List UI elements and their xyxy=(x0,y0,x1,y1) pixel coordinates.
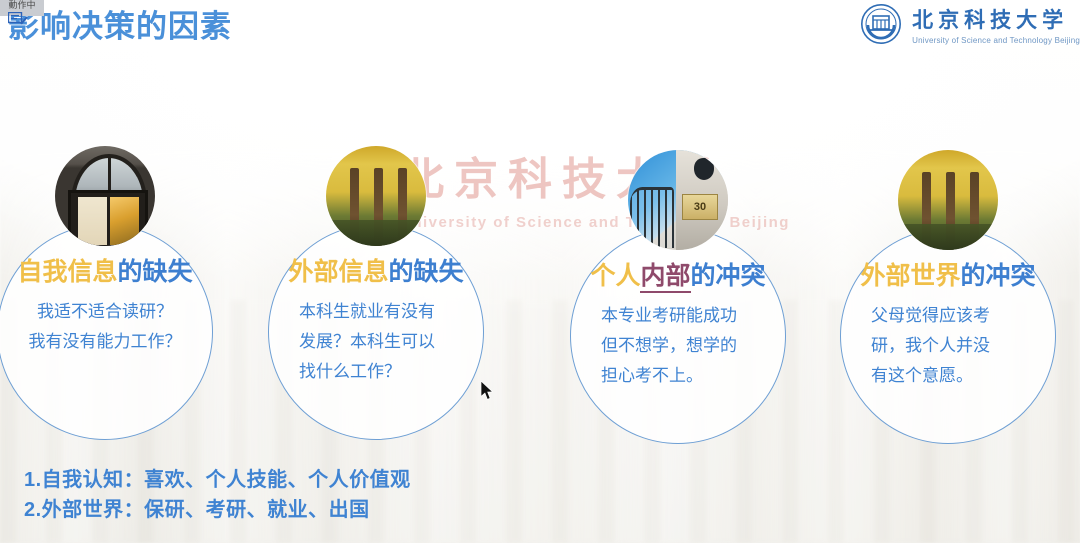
bubble-body-line: 研，我个人并没 xyxy=(871,331,1041,361)
bubble-body-line: 找什么工作？ xyxy=(299,357,469,387)
screen-share-overlay-label: 動作中 xyxy=(8,0,35,11)
ginkgo-trees-photo xyxy=(897,149,999,251)
bubble-body-line: 担心考不上。 xyxy=(601,361,771,391)
bubble-body-line: 本专业考研能成功 xyxy=(601,301,771,331)
bubble-body-line: 但不想学，想学的 xyxy=(601,331,771,361)
university-logo: 北京科技大学 University of Science and Technol… xyxy=(860,2,1080,46)
bubble-body-line: 我有没有能力工作？ xyxy=(12,327,198,357)
bottom-list-item: 1.自我认知：喜欢、个人技能、个人价值观 xyxy=(24,465,411,495)
bubble-body-line: 我适不适合读研？ xyxy=(12,297,198,327)
campus-gate-photo: 30 xyxy=(627,149,729,251)
presentation-slide: 北京科技大学 University of Science and Technol… xyxy=(0,0,1080,543)
bottom-list-item: 2.外部世界：保研、考研、就业、出国 xyxy=(24,495,411,525)
bubble-body-line: 发展？本科生可以 xyxy=(299,327,469,357)
university-name-en: University of Science and Technology Bei… xyxy=(912,36,1080,45)
presentation-screen-icon xyxy=(8,12,30,26)
bubble-heading: 个人内部的冲突 xyxy=(571,261,785,291)
bubble-heading-part-gold: 个人 xyxy=(590,262,640,290)
factor-bubble-external-information: 外部信息的缺失 本科生就业有没有 发展？本科生可以 找什么工作？ xyxy=(268,224,484,440)
factor-bubble-self-information: 自我信息的缺失 我适不适合读研？ 我有没有能力工作？ xyxy=(0,224,213,440)
bubble-heading-part-blue: 的冲突 xyxy=(961,262,1036,290)
bubble-heading-part-blue: 的缺失 xyxy=(389,258,464,286)
bubble-heading-part-blue: 的冲突 xyxy=(691,262,766,290)
bubble-heading-part-gold: 外部信息 xyxy=(288,258,388,286)
bubble-body: 本专业考研能成功 但不想学，想学的 担心考不上。 xyxy=(585,301,771,391)
bubble-heading-part-plum: 内部 xyxy=(640,262,690,293)
bubble-heading: 自我信息的缺失 xyxy=(0,257,212,287)
university-name-block: 北京科技大学 University of Science and Technol… xyxy=(912,4,1080,45)
factor-bubble-external-world-conflict: 外部世界的冲突 父母觉得应该考 研，我个人并没 有这个意愿。 xyxy=(840,228,1056,444)
bubble-body-line: 父母觉得应该考 xyxy=(871,301,1041,331)
gate-sign-number: 30 xyxy=(682,194,718,220)
bottom-summary-list: 1.自我认知：喜欢、个人技能、个人价值观 2.外部世界：保研、考研、就业、出国 xyxy=(24,465,411,525)
bubble-heading-part-gold: 自我信息 xyxy=(17,258,117,286)
bubble-body: 父母觉得应该考 研，我个人并没 有这个意愿。 xyxy=(855,301,1041,391)
ginkgo-trees-photo xyxy=(325,145,427,247)
bubble-heading-part-gold: 外部世界 xyxy=(860,262,960,290)
bubble-body: 本科生就业有没有 发展？本科生可以 找什么工作？ xyxy=(283,297,469,387)
university-name-cn: 北京科技大学 xyxy=(912,4,1080,34)
bubble-heading: 外部信息的缺失 xyxy=(269,257,483,287)
arched-doorway-photo xyxy=(54,145,156,247)
bubble-heading-part-blue: 的缺失 xyxy=(118,258,193,286)
bubble-body-line: 本科生就业有没有 xyxy=(299,297,469,327)
bubble-body-line: 有这个意愿。 xyxy=(871,361,1041,391)
factor-bubble-personal-internal-conflict: 30 个人内部的冲突 本专业考研能成功 但不想学，想学的 担心考不上。 xyxy=(570,228,786,444)
bubble-body: 我适不适合读研？ 我有没有能力工作？ xyxy=(12,297,198,357)
university-crest-icon xyxy=(860,3,902,45)
bubble-heading: 外部世界的冲突 xyxy=(841,261,1055,291)
